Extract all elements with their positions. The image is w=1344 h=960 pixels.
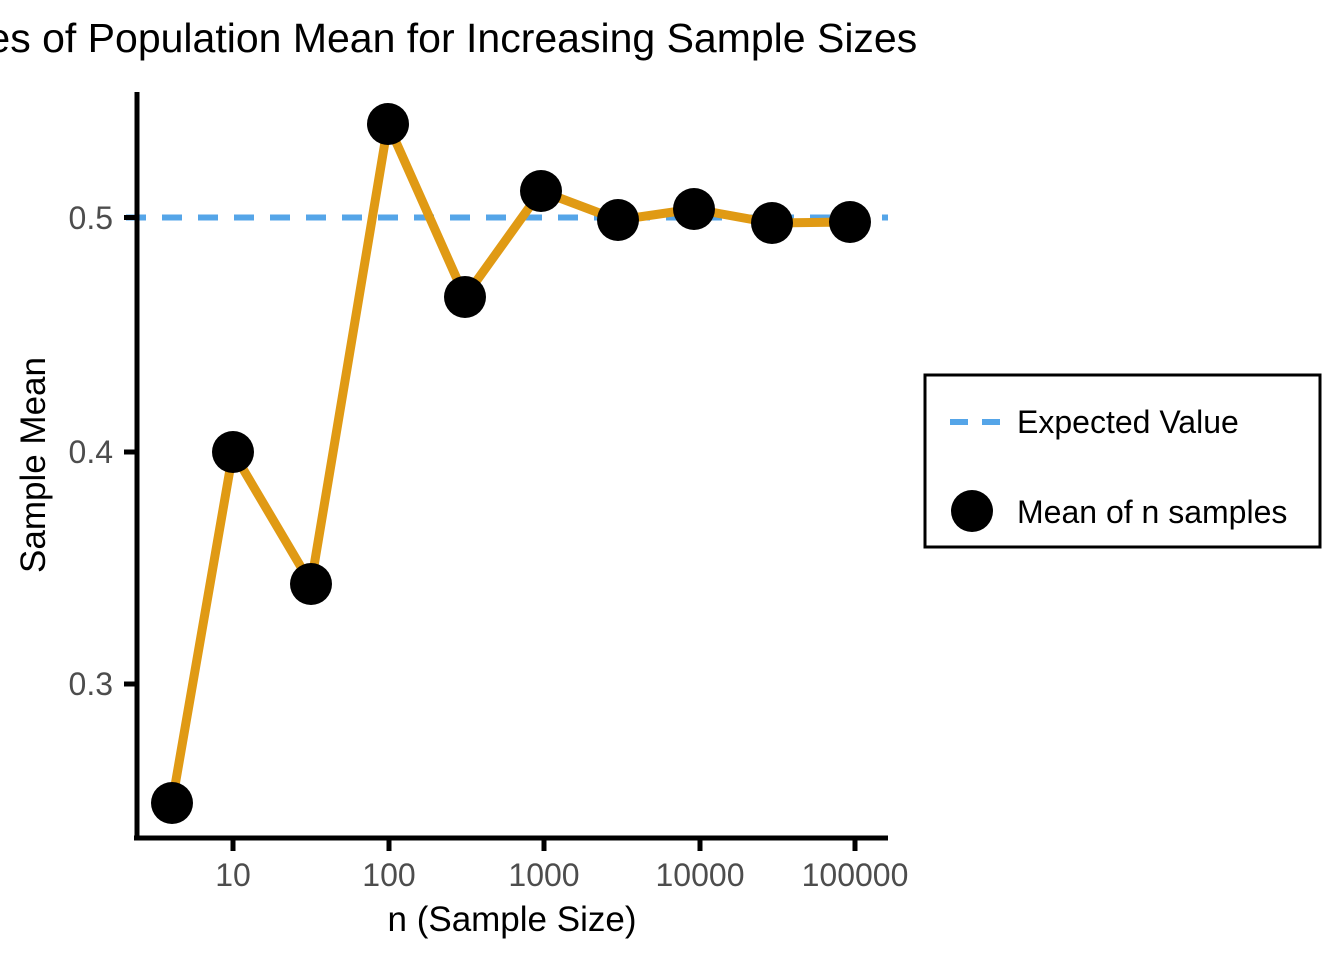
sample-mean-line xyxy=(172,124,850,803)
data-point xyxy=(751,202,793,244)
x-tick-label: 10 xyxy=(215,857,251,893)
x-axis-title: n (Sample Size) xyxy=(388,900,637,939)
sample-mean-markers xyxy=(151,103,871,824)
chart-figure: tes of Population Mean for Increasing Sa… xyxy=(0,0,1344,960)
data-point xyxy=(290,563,332,605)
legend-swatch-mean-of-n-samples xyxy=(951,490,993,532)
plot-area: 0.5 0.4 0.3 10 100 1000 10000 100000 n (… xyxy=(0,0,1344,960)
data-point xyxy=(151,782,193,824)
data-point xyxy=(444,276,486,318)
data-point xyxy=(367,103,409,145)
y-tick-label: 0.3 xyxy=(69,666,113,702)
x-tick-label: 100 xyxy=(362,857,415,893)
data-point xyxy=(829,201,871,243)
y-axis-title: Sample Mean xyxy=(14,357,53,573)
y-tick-label: 0.4 xyxy=(69,434,113,470)
y-tick-label: 0.5 xyxy=(69,200,113,236)
legend-label-expected-value: Expected Value xyxy=(1017,404,1239,440)
x-tick-label: 1000 xyxy=(508,857,579,893)
legend: Expected Value Mean of n samples xyxy=(925,375,1320,547)
data-point xyxy=(673,188,715,230)
x-tick-label: 100000 xyxy=(802,857,909,893)
legend-label-mean-of-n-samples: Mean of n samples xyxy=(1017,494,1287,530)
data-point xyxy=(212,431,254,473)
data-point xyxy=(520,170,562,212)
data-point xyxy=(597,199,639,241)
x-tick-label: 10000 xyxy=(656,857,745,893)
